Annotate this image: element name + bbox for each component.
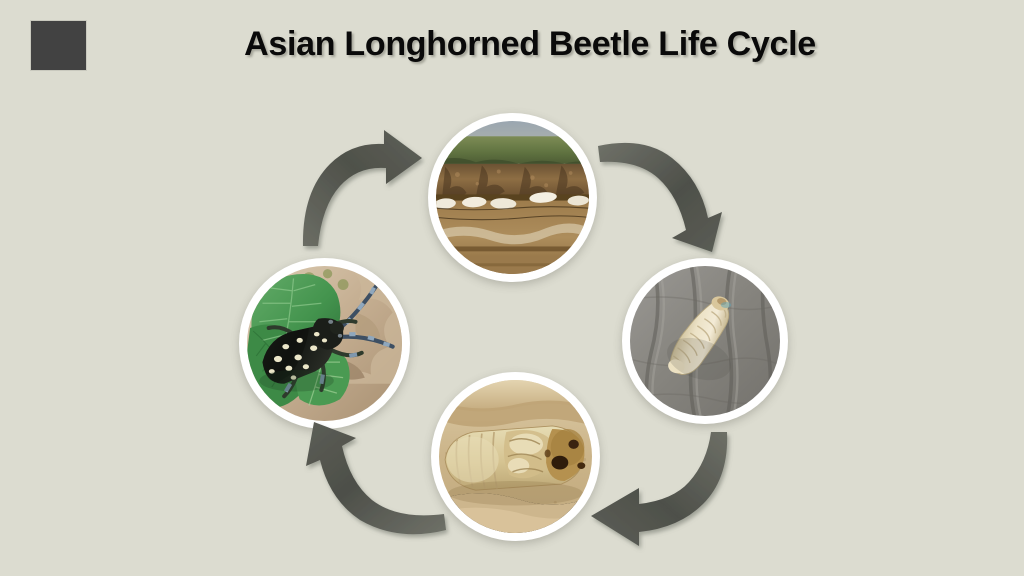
arrow-pupa-to-adult (294, 418, 449, 543)
pupa-body (445, 426, 585, 490)
arrow-larva-to-pupa (585, 430, 735, 550)
beetle-pupa-in-wood-chamber-photo (439, 380, 592, 533)
cycle-stage-adult-image-clip (247, 266, 402, 421)
cycle-stage-egg[interactable] (428, 113, 597, 282)
beetle-larva-photo (630, 266, 780, 416)
cycle-stage-egg-image-clip (436, 121, 589, 274)
beetle-eggs-in-bark-photo (436, 121, 589, 274)
cycle-stage-larva-image-clip (630, 266, 780, 416)
page-title: Asian Longhorned Beetle Life Cycle (120, 25, 940, 64)
arrow-adult-to-egg (300, 128, 445, 248)
slide-canvas: Asian Longhorned Beetle Life Cycle (0, 0, 1024, 576)
cycle-stage-larva[interactable] (622, 258, 788, 424)
logo-placeholder-box (30, 20, 87, 71)
adult-asian-longhorned-beetle-on-leaf-photo (247, 266, 402, 421)
cycle-stage-pupa-image-clip (439, 380, 592, 533)
cycle-stage-pupa[interactable] (431, 372, 600, 541)
cycle-stage-adult[interactable] (239, 258, 410, 429)
arrow-egg-to-larva (596, 132, 741, 252)
